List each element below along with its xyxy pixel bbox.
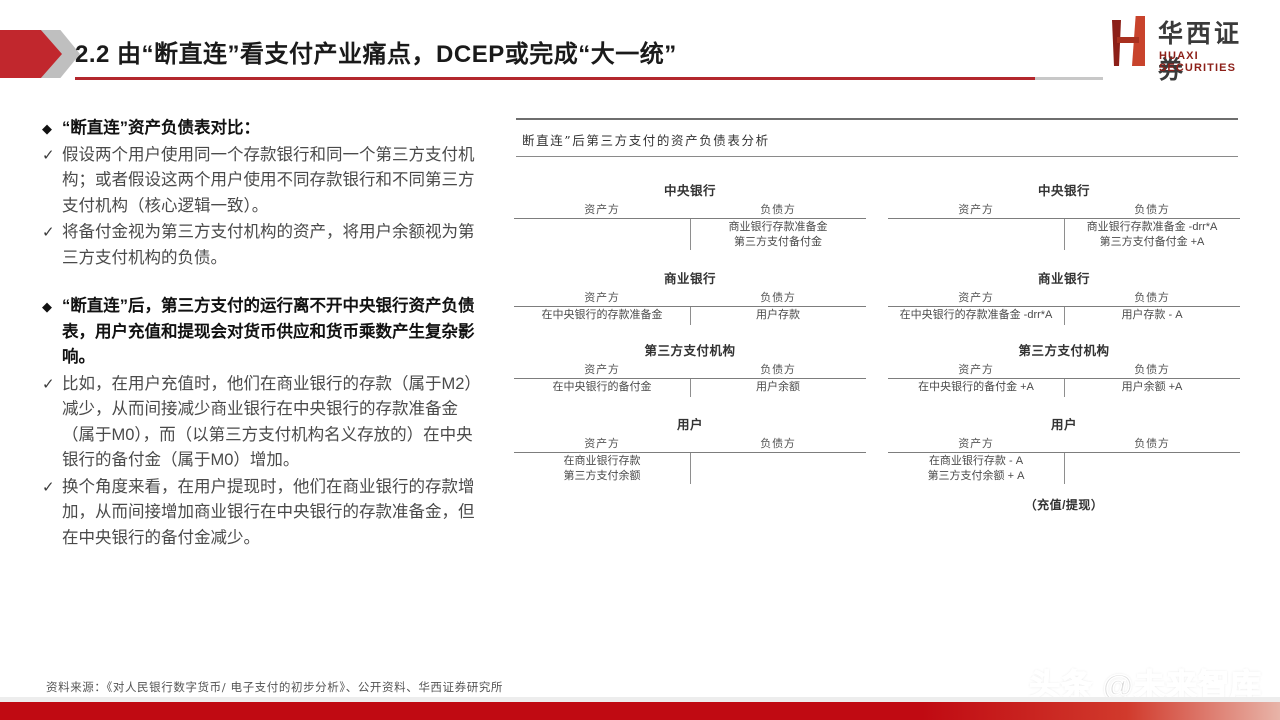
bullet-list: ◆“断直连”资产负债表对比：✓假设两个用户使用同一个存款银行和同一个第三方支付机… — [42, 116, 482, 552]
table-column-headers: 资产方负债方 — [888, 201, 1240, 218]
column-header-liability: 负债方 — [690, 289, 866, 306]
table-cell-line: 在中央银行的存款准备金 — [514, 308, 690, 323]
column-header-asset: 资产方 — [514, 361, 690, 378]
table-column-headers: 资产方负债方 — [888, 435, 1240, 452]
table-cell-line: 商业银行存款准备金 -drr*A — [1064, 220, 1240, 235]
bullet-text: “断直连”后，第三方支付的运行离不开中央银行资产负债表，用户充值和提现会对货币供… — [62, 294, 482, 371]
table-cell-line: 用户存款 - A — [1064, 308, 1240, 323]
table-column-headers: 资产方负债方 — [888, 289, 1240, 306]
table-entity-title: 第三方支付机构 — [888, 340, 1240, 359]
table-row: 商业银行存款准备金第三方支付备付金 — [514, 219, 866, 250]
table-cell-line: 商业银行存款准备金 — [690, 220, 866, 235]
check-bullet-icon: ✓ — [42, 220, 62, 245]
balance-sheet-table: 中央银行资产方负债方商业银行存款准备金 -drr*A第三方支付备付金 +A — [888, 180, 1240, 250]
caption-rule-top — [516, 118, 1238, 120]
table-cell-line: 第三方支付余额 + A — [888, 469, 1064, 484]
balance-sheet-table: 商业银行资产方负债方在中央银行的存款准备金用户存款 — [514, 268, 866, 325]
diamond-bullet-icon: ◆ — [42, 294, 62, 319]
bullet-item: ✓将备付金视为第三方支付机构的资产，将用户余额视为第三方支付机构的负债。 — [42, 220, 482, 271]
check-bullet-icon: ✓ — [42, 143, 62, 168]
table-center-divider — [690, 219, 691, 250]
column-header-liability: 负债方 — [690, 361, 866, 378]
table-cell-asset — [514, 219, 690, 250]
table-center-divider — [1064, 307, 1065, 325]
column-header-asset: 资产方 — [888, 435, 1064, 452]
table-cell-liability: 用户存款 — [690, 307, 866, 325]
table-cell-line: 第三方支付备付金 +A — [1064, 235, 1240, 250]
column-header-liability: 负债方 — [1064, 361, 1240, 378]
table-cell-asset: 在商业银行存款第三方支付余额 — [514, 453, 690, 484]
table-cell-line: 在中央银行的备付金 +A — [888, 380, 1064, 395]
table-cell-line: 第三方支付备付金 — [690, 235, 866, 250]
balance-sheet-table: 第三方支付机构资产方负债方在中央银行的备付金用户余额 — [514, 340, 866, 397]
bullet-spacer — [42, 272, 482, 294]
table-cell-asset: 在中央银行的备付金 — [514, 379, 690, 397]
diagram-note: （充值/提现） — [888, 496, 1240, 513]
table-center-divider — [1064, 379, 1065, 397]
check-bullet-icon: ✓ — [42, 475, 62, 500]
title-underline-gray — [1035, 77, 1103, 80]
table-center-divider — [690, 307, 691, 325]
column-header-asset: 资产方 — [888, 361, 1064, 378]
table-row: 商业银行存款准备金 -drr*A第三方支付备付金 +A — [888, 219, 1240, 250]
column-header-asset: 资产方 — [888, 201, 1064, 218]
column-header-asset: 资产方 — [514, 201, 690, 218]
table-cell-asset: 在商业银行存款 - A第三方支付余额 + A — [888, 453, 1064, 484]
page-title: 2.2 由“断直连”看支付产业痛点，DCEP或完成“大一统” — [75, 34, 1055, 69]
table-cell-liability: 用户余额 +A — [1064, 379, 1240, 397]
table-entity-title: 商业银行 — [888, 268, 1240, 287]
diagram-caption: 断直连”后第三方支付的资产负债表分析 — [522, 130, 770, 149]
footer-bar — [0, 702, 1280, 720]
huaxi-securities-logo: 华西证券 HUAXI SECURITIES — [1110, 12, 1260, 74]
column-header-asset: 资产方 — [514, 435, 690, 452]
column-header-liability: 负债方 — [690, 201, 866, 218]
table-row: 在中央银行的备付金用户余额 — [514, 379, 866, 397]
table-cell-line: 用户存款 — [690, 308, 866, 323]
bullet-text: 将备付金视为第三方支付机构的资产，将用户余额视为第三方支付机构的负债。 — [62, 220, 482, 271]
table-column-headers: 资产方负债方 — [514, 361, 866, 378]
column-header-liability: 负债方 — [690, 435, 866, 452]
table-center-divider — [1064, 453, 1065, 484]
table-row: 在商业银行存款 - A第三方支付余额 + A — [888, 453, 1240, 484]
table-row: 在中央银行的存款准备金 -drr*A用户存款 - A — [888, 307, 1240, 325]
caption-rule-bottom — [516, 156, 1238, 157]
huaxi-h-mark-icon — [1110, 16, 1150, 68]
column-header-liability: 负债方 — [1064, 435, 1240, 452]
table-cell-line: 在商业银行存款 — [514, 454, 690, 469]
table-entity-title: 中央银行 — [514, 180, 866, 199]
bullet-item: ✓换个角度来看，在用户提现时，他们在商业银行的存款增加，从而间接增加商业银行在中… — [42, 475, 482, 552]
table-cell-liability: 商业银行存款准备金第三方支付备付金 — [690, 219, 866, 250]
table-cell-line: 在商业银行存款 - A — [888, 454, 1064, 469]
table-row: 在中央银行的存款准备金用户存款 — [514, 307, 866, 325]
table-entity-title: 中央银行 — [888, 180, 1240, 199]
table-entity-title: 第三方支付机构 — [514, 340, 866, 359]
table-entity-title: 用户 — [888, 414, 1240, 433]
column-header-asset: 资产方 — [514, 289, 690, 306]
logo-name-en: HUAXI SECURITIES — [1159, 50, 1260, 74]
table-cell-line: 第三方支付余额 — [514, 469, 690, 484]
table-cell-asset: 在中央银行的备付金 +A — [888, 379, 1064, 397]
column-header-liability: 负债方 — [1064, 201, 1240, 218]
table-cell-liability — [1064, 453, 1240, 484]
balance-sheet-table: 用户资产方负债方在商业银行存款 - A第三方支付余额 + A — [888, 414, 1240, 484]
table-row: 在商业银行存款第三方支付余额 — [514, 453, 866, 484]
table-cell-liability: 商业银行存款准备金 -drr*A第三方支付备付金 +A — [1064, 219, 1240, 250]
balance-sheet-table: 第三方支付机构资产方负债方在中央银行的备付金 +A用户余额 +A — [888, 340, 1240, 397]
table-center-divider — [1064, 219, 1065, 250]
diamond-bullet-icon: ◆ — [42, 116, 62, 141]
table-cell-line: 在中央银行的存款准备金 -drr*A — [888, 308, 1064, 323]
balance-sheet-table: 商业银行资产方负债方在中央银行的存款准备金 -drr*A用户存款 - A — [888, 268, 1240, 325]
balance-sheet-diagram: 断直连”后第三方支付的资产负债表分析 中央银行资产方负债方商业银行存款准备金第三… — [508, 118, 1246, 528]
table-cell-line: 用户余额 — [690, 380, 866, 395]
table-entity-title: 商业银行 — [514, 268, 866, 287]
balance-sheet-table: 中央银行资产方负债方商业银行存款准备金第三方支付备付金 — [514, 180, 866, 250]
table-column-headers: 资产方负债方 — [514, 201, 866, 218]
table-column-headers: 资产方负债方 — [514, 435, 866, 452]
table-cell-line: 在中央银行的备付金 — [514, 380, 690, 395]
table-center-divider — [690, 379, 691, 397]
table-cell-line: 用户余额 +A — [1064, 380, 1240, 395]
table-cell-asset: 在中央银行的存款准备金 — [514, 307, 690, 325]
table-entity-title: 用户 — [514, 414, 866, 433]
balance-sheet-table: 用户资产方负债方在商业银行存款第三方支付余额 — [514, 414, 866, 484]
slide-header: 2.2 由“断直连”看支付产业痛点，DCEP或完成“大一统” 华西证券 HUAX… — [0, 0, 1280, 100]
table-column-headers: 资产方负债方 — [888, 361, 1240, 378]
table-cell-asset: 在中央银行的存款准备金 -drr*A — [888, 307, 1064, 325]
table-column-headers: 资产方负债方 — [514, 289, 866, 306]
bullet-text: 换个角度来看，在用户提现时，他们在商业银行的存款增加，从而间接增加商业银行在中央… — [62, 475, 482, 552]
title-underline-red — [75, 77, 1035, 80]
bullet-item: ✓假设两个用户使用同一个存款银行和同一个第三方支付机构；或者假设这两个用户使用不… — [42, 143, 482, 220]
column-header-asset: 资产方 — [888, 289, 1064, 306]
bullet-item: ✓比如，在用户充值时，他们在商业银行的存款（属于M2）减少，从而间接减少商业银行… — [42, 372, 482, 474]
bullet-text: 比如，在用户充值时，他们在商业银行的存款（属于M2）减少，从而间接减少商业银行在… — [62, 372, 482, 474]
table-row: 在中央银行的备付金 +A用户余额 +A — [888, 379, 1240, 397]
column-header-liability: 负债方 — [1064, 289, 1240, 306]
check-bullet-icon: ✓ — [42, 372, 62, 397]
table-cell-liability — [690, 453, 866, 484]
bullet-text: 假设两个用户使用同一个存款银行和同一个第三方支付机构；或者假设这两个用户使用不同… — [62, 143, 482, 220]
bullet-text: “断直连”资产负债表对比： — [62, 116, 482, 142]
table-cell-asset — [888, 219, 1064, 250]
table-cell-liability: 用户存款 - A — [1064, 307, 1240, 325]
bullet-item: ◆“断直连”后，第三方支付的运行离不开中央银行资产负债表，用户充值和提现会对货币… — [42, 294, 482, 371]
table-center-divider — [690, 453, 691, 484]
table-cell-liability: 用户余额 — [690, 379, 866, 397]
bullet-item: ◆“断直连”资产负债表对比： — [42, 116, 482, 142]
source-citation: 资料来源：《对人民银行数字货币/ 电子支付的初步分析》、公开资料、华西证券研究所 — [46, 679, 503, 695]
